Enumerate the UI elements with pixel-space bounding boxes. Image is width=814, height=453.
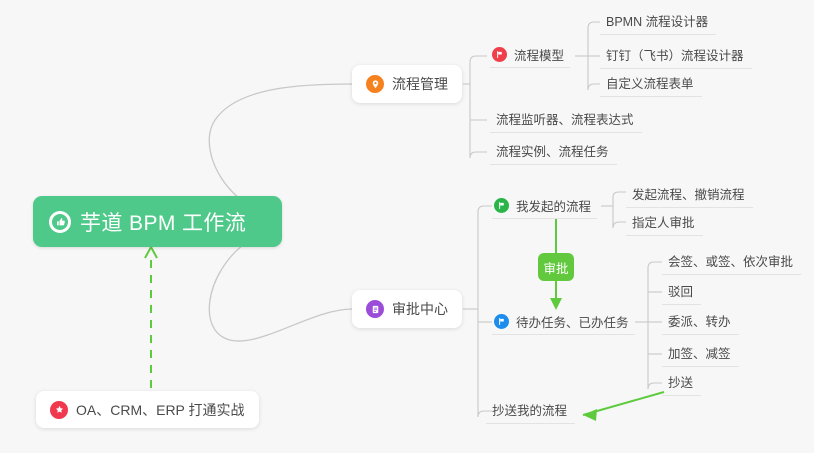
flag-icon (494, 314, 509, 329)
connector-mine-child-1 (613, 192, 626, 197)
connector-model-child-3 (588, 84, 600, 90)
connector-model-child-1 (588, 22, 600, 28)
star-icon (50, 401, 68, 419)
root-label: 芋道 BPM 工作流 (80, 207, 246, 237)
node-label-my-initiated-processes: 我发起的流程 (516, 196, 591, 215)
leaf-cc-my-processes[interactable]: 抄送我的流程 (486, 398, 575, 424)
leaf-process-listener-expression[interactable]: 流程监听器、流程表达式 (490, 107, 642, 133)
leaf-initiate-cancel-process[interactable]: 发起流程、撤销流程 (626, 182, 753, 208)
node-process-model[interactable]: 流程模型 (490, 42, 570, 68)
mindmap-canvas: 芋道 BPM 工作流 流程管理 流程模型 BPMN 流程设计器 钉钉（飞书）流程… (0, 0, 814, 453)
node-label-process-model: 流程模型 (514, 45, 564, 64)
branch-label-approval-center: 审批中心 (392, 299, 448, 319)
leaf-process-instance-task[interactable]: 流程实例、流程任务 (490, 139, 617, 165)
flag-icon (494, 198, 509, 213)
leaf-cc[interactable]: 抄送 (662, 370, 701, 396)
connector-mine-child-2 (613, 222, 626, 228)
connector-pm-to-process-model (470, 56, 487, 62)
node-my-initiated-processes[interactable]: 我发起的流程 (492, 193, 597, 219)
arrowhead-cc-to-cc-my-process (583, 409, 597, 421)
leaf-reject[interactable]: 驳回 (662, 279, 701, 305)
flag-icon (492, 47, 507, 62)
arrowhead-integration-to-root (145, 247, 157, 258)
leaf-countersign-orsign-sequential[interactable]: 会签、或签、依次审批 (662, 249, 801, 275)
leaf-dingtalk-feishu-designer[interactable]: 钉钉（飞书）流程设计器 (600, 43, 752, 69)
location-pin-icon (366, 75, 384, 93)
connector-pm-to-leaf-2 (470, 152, 487, 158)
leaf-add-remove-sign[interactable]: 加签、减签 (662, 341, 739, 367)
branch-node-process-management[interactable]: 流程管理 (352, 65, 462, 103)
connector-todo-child-1 (648, 262, 662, 268)
branch-node-approval-center[interactable]: 审批中心 (352, 290, 462, 328)
leaf-delegate-transfer[interactable]: 委派、转办 (662, 309, 739, 335)
node-label-todo-done-tasks: 待办任务、已办任务 (516, 312, 629, 331)
arrow-cc-to-cc-my-process (583, 392, 664, 415)
integration-card-label: OA、CRM、ERP 打通实战 (76, 400, 245, 420)
connector-ac-to-my-processes (478, 206, 492, 212)
node-todo-done-tasks[interactable]: 待办任务、已办任务 (492, 309, 635, 335)
approval-flow-badge: 审批 (538, 253, 574, 281)
document-icon (366, 300, 384, 318)
root-node[interactable]: 芋道 BPM 工作流 (33, 196, 282, 247)
branch-label-process-management: 流程管理 (392, 74, 448, 94)
integration-card[interactable]: OA、CRM、ERP 打通实战 (36, 391, 259, 428)
leaf-custom-process-form[interactable]: 自定义流程表单 (600, 71, 702, 97)
thumbs-up-icon (49, 211, 71, 233)
leaf-bpmn-designer[interactable]: BPMN 流程设计器 (600, 9, 716, 35)
leaf-designated-approver[interactable]: 指定人审批 (626, 210, 703, 236)
connector-root-to-process-management (209, 84, 352, 214)
connector-todo-child-5 (648, 383, 662, 389)
